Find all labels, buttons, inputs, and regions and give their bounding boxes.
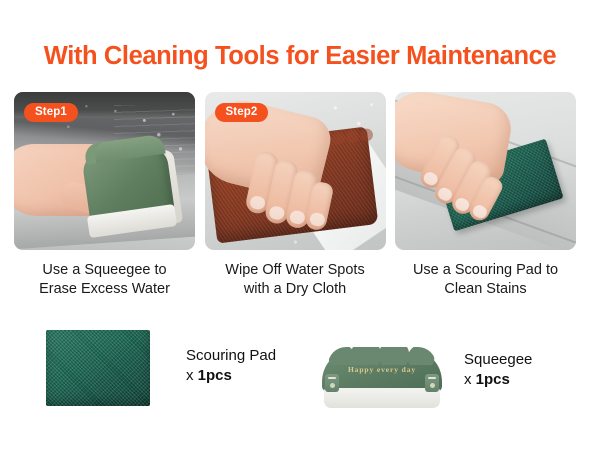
step-badge-2: Step2	[215, 103, 269, 122]
quantity-prefix: x	[464, 371, 476, 388]
step-caption-2: Wipe Off Water Spots with a Dry Cloth	[205, 261, 386, 299]
step-caption-3: Use a Scouring Pad to Clean Stains	[395, 261, 576, 299]
squeegee-clip-left	[325, 374, 339, 392]
caption-line-2: with a Dry Cloth	[205, 280, 386, 299]
product-name: Scouring Pad	[186, 346, 276, 366]
quantity-prefix: x	[186, 367, 198, 384]
squeegee-engraving: Happy every day	[322, 365, 442, 374]
caption-line-1: Use a Scouring Pad to	[395, 261, 576, 280]
product-quantity: x 1pcs	[186, 366, 276, 386]
squeegee-product-image: Happy every day	[322, 352, 442, 408]
quantity-value: 1pcs	[476, 371, 510, 388]
page-title: With Cleaning Tools for Easier Maintenan…	[0, 42, 600, 71]
scouring-pad-label: Scouring Pad x 1pcs	[186, 346, 276, 386]
squeegee-white-blade	[324, 388, 440, 408]
promo-page: With Cleaning Tools for Easier Maintenan…	[0, 0, 600, 450]
caption-line-1: Wipe Off Water Spots	[205, 261, 386, 280]
quantity-value: 1pcs	[198, 367, 232, 384]
scouring-pad-product-image	[46, 330, 150, 406]
caption-line-2: Clean Stains	[395, 280, 576, 299]
caption-line-2: Erase Excess Water	[14, 280, 195, 299]
product-quantity: x 1pcs	[464, 370, 532, 390]
step-caption-1: Use a Squeegee to Erase Excess Water	[14, 261, 195, 299]
step-panel-3	[395, 92, 576, 250]
step-3-photo	[395, 92, 576, 250]
caption-line-1: Use a Squeegee to	[14, 261, 195, 280]
squeegee-label: Squeegee x 1pcs	[464, 350, 532, 390]
step-panel-1: Step1	[14, 92, 195, 250]
step-badge-1: Step1	[24, 103, 78, 122]
steps-row: Step1 Step2	[14, 92, 586, 250]
step-panel-2: Step2	[205, 92, 386, 250]
product-name: Squeegee	[464, 350, 532, 370]
squeegee-clip-right	[425, 374, 439, 392]
